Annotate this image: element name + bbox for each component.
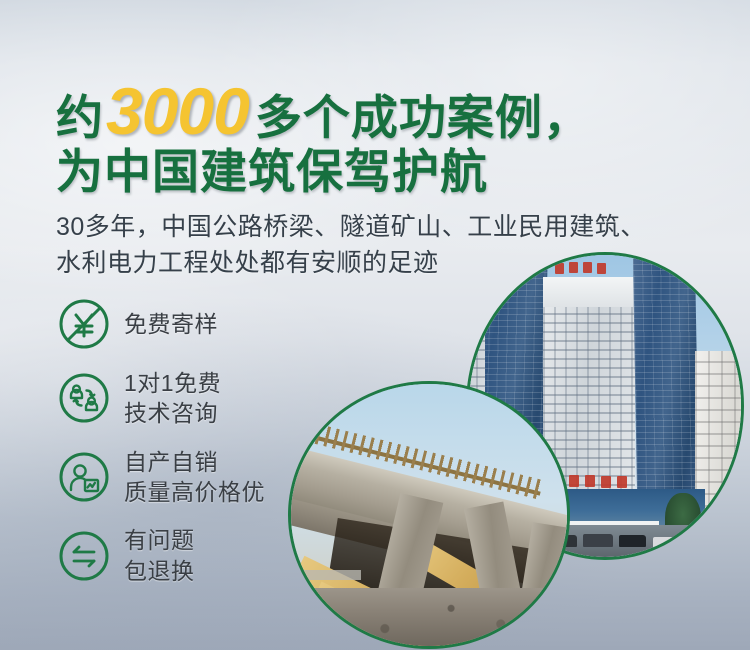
feature-label-line: 质量高价格优: [124, 477, 265, 507]
feature-label-line: 有问题: [124, 525, 195, 555]
subtitle: 30多年，中国公路桥梁、隧道矿山、工业民用建筑、 水利电力工程处处都有安顺的足迹: [56, 210, 646, 281]
entrance-red-sign: [569, 475, 579, 487]
feature-label: 有问题 包退换: [124, 525, 195, 586]
feature-label-line: 自产自销: [124, 447, 265, 477]
feature-item-free-sample[interactable]: 免费寄样: [58, 298, 265, 350]
headline-line-1: 约3000多个成功案例，: [56, 78, 591, 140]
headline-prefix: 约: [56, 91, 104, 144]
headline-suffix: 多个成功案例，: [255, 91, 591, 144]
feature-item-return-exchange[interactable]: 有问题 包退换: [58, 525, 265, 586]
feature-label: 自产自销 质量高价格优: [124, 447, 265, 508]
headline-line-2-text: 为中国建筑保驾护航: [56, 145, 488, 198]
return-exchange-icon: [58, 530, 110, 582]
feature-label-line: 免费寄样: [124, 309, 218, 339]
center-upper-band: [543, 277, 635, 307]
one-on-one-consult-icon: [58, 372, 110, 424]
parked-car: [619, 535, 646, 547]
self-production-icon: [58, 451, 110, 503]
entrance-red-sign: [617, 476, 627, 488]
entrance-red-sign: [585, 475, 595, 487]
free-sample-icon: [58, 298, 110, 350]
feature-label-line: 包退换: [124, 556, 195, 586]
feature-item-consult[interactable]: 1对1免费 技术咨询: [58, 368, 265, 429]
parked-car: [653, 537, 675, 548]
feature-list: 免费寄样: [58, 298, 265, 604]
subtitle-line-2: 水利电力工程处处都有安顺的足迹: [56, 246, 646, 282]
promo-banner: 约3000多个成功案例， 为中国建筑保驾护航 30多年，中国公路桥梁、隧道矿山、…: [0, 0, 750, 650]
subtitle-line-1: 30多年，中国公路桥梁、隧道矿山、工业民用建筑、: [56, 210, 646, 246]
parked-car: [583, 534, 613, 547]
page-title: 约3000多个成功案例， 为中国建筑保驾护航: [56, 78, 591, 195]
headline-line-2: 为中国建筑保驾护航: [56, 148, 591, 195]
bridge-scene: [291, 384, 567, 646]
feature-label: 1对1免费 技术咨询: [124, 368, 221, 429]
feature-item-self-production[interactable]: 自产自销 质量高价格优: [58, 447, 265, 508]
distant-structures: [291, 570, 361, 580]
bridge-photo: [288, 381, 570, 649]
feature-label: 免费寄样: [124, 309, 218, 339]
headline-number: 3000: [104, 74, 255, 148]
feature-label-line: 技术咨询: [124, 398, 221, 428]
rubble-speckle: [291, 588, 567, 646]
feature-label-line: 1对1免费: [124, 368, 221, 398]
entrance-red-sign: [601, 476, 611, 488]
blue-tower-right: [633, 255, 700, 511]
